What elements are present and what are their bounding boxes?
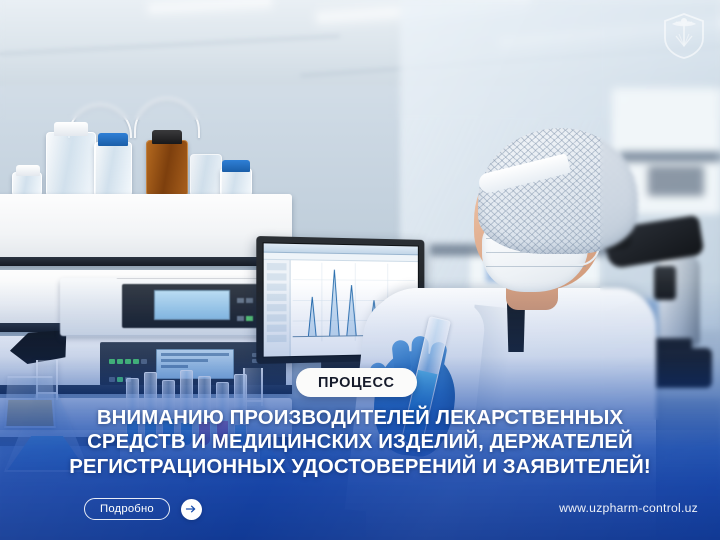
headline-line-2: СРЕДСТВ И МЕДИЦИНСКИХ ИЗДЕЛИЙ, ДЕРЖАТЕЛЕ… [18,430,702,454]
shield-caduceus-logo [662,12,706,60]
logo-svg [662,12,706,60]
arrow-right-icon[interactable] [181,499,202,520]
bottle-cap [16,165,40,176]
bottle-cap [152,130,182,144]
category-badge[interactable]: ПРОЦЕСС [296,368,417,397]
depth-of-field-right [600,0,720,420]
bottle-cap [222,160,250,172]
hplc-module [0,194,292,266]
website-url: www.uzpharm-control.uz [559,501,698,515]
solvent-bottle-clear [190,154,222,198]
bottle-cap [98,133,128,146]
module-strip [0,257,292,266]
details-button-label: Подробно [100,503,154,515]
solvent-bottle-amber [146,140,188,198]
arrow-right-glyph [185,503,197,515]
details-button[interactable]: Подробно [84,498,170,520]
cta-group: Подробно [84,498,202,520]
solvent-bottle-clear [94,142,132,198]
poster-canvas: ПРОЦЕСС ВНИМАНИЮ ПРОИЗВОДИТЕЛЕЙ ЛЕКАРСТВ… [0,0,720,540]
headline-line-1: ВНИМАНИЮ ПРОИЗВОДИТЕЛЕЙ ЛЕКАРСТВЕННЫХ [18,406,702,430]
category-badge-label: ПРОЦЕСС [318,375,395,391]
headline-line-3: РЕГИСТРАЦИОННЫХ УДОСТОВЕРЕНИЙ И ЗАЯВИТЕЛ… [18,455,702,479]
solvent-bottle-clear [46,132,96,198]
page-title: ВНИМАНИЮ ПРОИЗВОДИТЕЛЕЙ ЛЕКАРСТВЕННЫХ СР… [18,406,702,479]
bottle-cap [54,122,88,136]
